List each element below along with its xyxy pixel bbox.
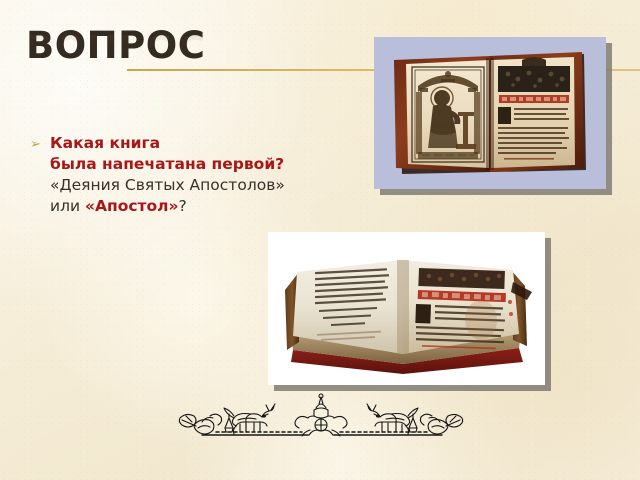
question-line-2: была напечатана первой? [50, 154, 380, 175]
question-line-4: или «Апостол»? [50, 196, 380, 217]
page-title-reflection: ВОПРОС [26, 27, 205, 67]
question-line-4-emphasis: «Апостол» [85, 197, 179, 215]
question-line-4-suffix: ? [179, 197, 187, 215]
illuminated-gospel-photo [374, 37, 606, 189]
illuminated-gospel-artwork [386, 46, 594, 180]
question-line-3: «Деяния Святых Апостолов» [50, 175, 380, 196]
apostol-book-artwork [277, 238, 536, 379]
question-line-4-prefix: или [50, 197, 85, 215]
apostol-book-photo [268, 232, 545, 385]
question-line-1: Какая книга [50, 133, 380, 154]
question-text: Какая книга была напечатана первой? «Дея… [50, 133, 380, 217]
question-text-block: ➢ Какая книга была напечатана первой? «Д… [30, 133, 380, 217]
bullet-arrow-icon: ➢ [30, 133, 50, 150]
bullet-row: ➢ Какая книга была напечатана первой? «Д… [30, 133, 380, 217]
illuminated-gospel-svg [386, 46, 594, 180]
medieval-beasts-vignette [176, 392, 466, 444]
slide-canvas: ВОПРОС ВОПРОС ➢ Какая книга была напечат… [0, 0, 640, 480]
medieval-beasts-vignette-svg [176, 392, 466, 444]
apostol-book-svg [277, 238, 536, 379]
